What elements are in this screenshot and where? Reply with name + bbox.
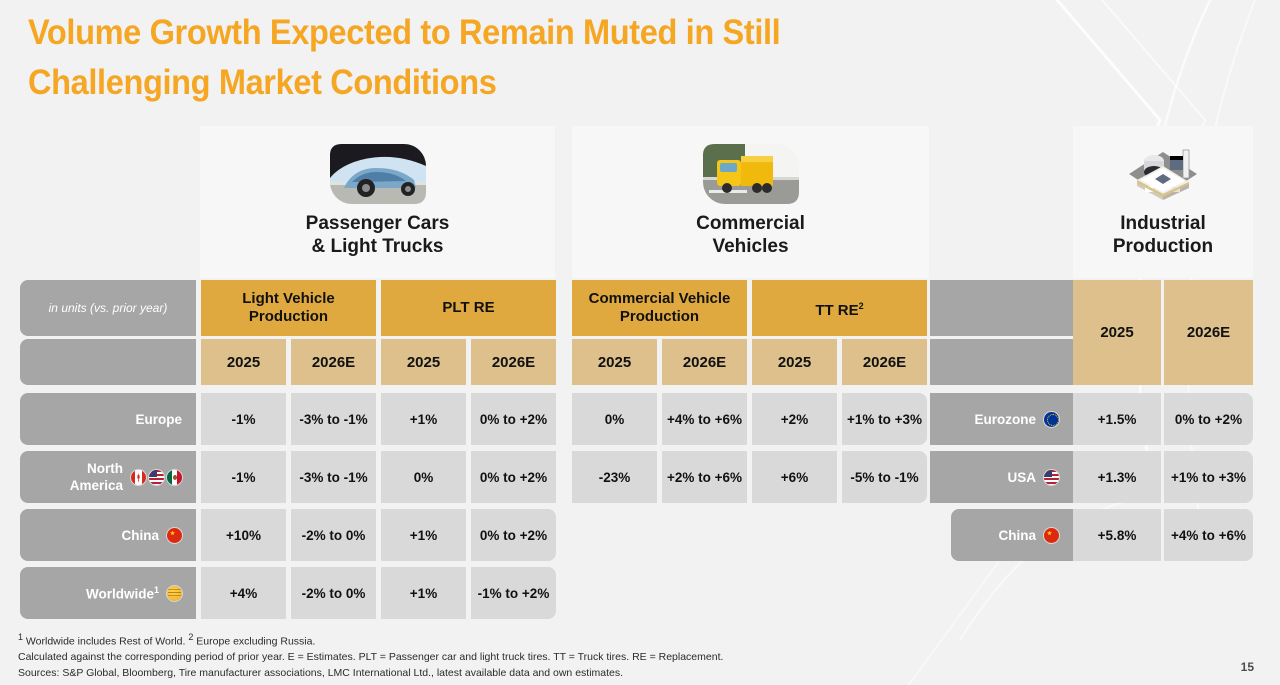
- panel-commercial-vehicles: Commercial Vehicles: [572, 126, 929, 278]
- cell-value: -23%: [599, 470, 631, 485]
- panel-title-line2: Production: [1113, 236, 1213, 257]
- cell-value: 0% to +2%: [480, 528, 547, 543]
- cell-value: -1% to +2%: [478, 586, 550, 601]
- cell-europe-1: -3% to -1%: [291, 393, 376, 445]
- year-label: 2025: [227, 354, 260, 371]
- cell-value: +1% to +3%: [847, 412, 922, 427]
- year-label: 2026E: [683, 354, 726, 371]
- flag-eu-icon: [1044, 412, 1059, 427]
- row-label-line1: North: [87, 461, 123, 476]
- cell-value: +1%: [410, 586, 437, 601]
- cell-north-america-1: -3% to -1%: [291, 451, 376, 503]
- cell-value: -3% to -1%: [299, 470, 367, 485]
- footnote-line-3: Sources: S&P Global, Bloomberg, Tire man…: [18, 666, 723, 682]
- cell-north-america-3: 0% to +2%: [471, 451, 556, 503]
- cell-value: +1% to +3%: [1171, 470, 1246, 485]
- footnote-text-2: Europe excluding Russia.: [193, 636, 315, 648]
- cell-value: +10%: [226, 528, 261, 543]
- cell-north-america-6: +6%: [752, 451, 837, 503]
- footnote-line-2: Calculated against the corresponding per…: [18, 650, 723, 666]
- footnote-marker-1: 1: [154, 585, 159, 595]
- row-label-text: China: [121, 528, 159, 543]
- cell-europe-3: 0% to +2%: [471, 393, 556, 445]
- header-gap-cell-2: [930, 339, 1073, 385]
- year-row-label-spacer: [20, 339, 196, 385]
- panel-title-passenger-cars: Passenger Cars & Light Trucks: [200, 212, 555, 258]
- cell-europe-4: 0%: [572, 393, 657, 445]
- panel-title-line1: Commercial: [696, 213, 805, 234]
- panel-title-line2: & Light Trucks: [312, 236, 444, 257]
- cell-china-2: +1%: [381, 509, 466, 561]
- cell-china-ip-1: +4% to +6%: [1164, 509, 1253, 561]
- cell-value: +1.3%: [1098, 470, 1137, 485]
- cell-value: -2% to 0%: [302, 528, 366, 543]
- year-header-3: 2026E: [471, 339, 556, 385]
- row-label-worldwide: Worldwide1: [20, 567, 196, 619]
- cell-value: -1%: [231, 412, 255, 427]
- group-header-commercial-vehicle-production: Commercial Vehicle Production: [572, 280, 747, 336]
- cell-north-america-2: 0%: [381, 451, 466, 503]
- year-label: 2026E: [863, 354, 906, 371]
- row-label-line2: America: [70, 478, 123, 493]
- page-title: Volume Growth Expected to Remain Muted i…: [28, 8, 958, 108]
- year-header-0: 2025: [201, 339, 286, 385]
- ip-year-header-2026e: 2026E: [1164, 280, 1253, 385]
- cell-europe-7: +1% to +3%: [842, 393, 927, 445]
- ip-year-2025: 2025: [1100, 324, 1133, 341]
- cell-value: +1%: [410, 412, 437, 427]
- cell-value: 0%: [414, 470, 434, 485]
- cell-value: -2% to 0%: [302, 586, 366, 601]
- cell-value: +5.8%: [1098, 528, 1137, 543]
- group-header-line1: TT RE: [815, 302, 858, 319]
- cell-value: +1.5%: [1098, 412, 1137, 427]
- flag-canada-icon: [131, 470, 146, 485]
- group-header-plt-re: PLT RE: [381, 280, 556, 336]
- row-label-text: USA: [1007, 470, 1036, 485]
- cell-value: 0% to +2%: [480, 470, 547, 485]
- cell-value: -1%: [231, 470, 255, 485]
- flag-china-icon: [1044, 528, 1059, 543]
- row-label-europe: Europe: [20, 393, 196, 445]
- cell-value: 0% to +2%: [1175, 412, 1242, 427]
- row-label-china-ip: China: [951, 509, 1073, 561]
- footnote-text-1: Worldwide includes Rest of World.: [23, 636, 188, 648]
- cell-value: +2% to +6%: [667, 470, 742, 485]
- row-label-eurozone: Eurozone: [930, 393, 1073, 445]
- cell-value: -3% to -1%: [299, 412, 367, 427]
- footnote-line-1: 1 Worldwide includes Rest of World. 2 Eu…: [18, 630, 723, 650]
- row-label-text: Eurozone: [974, 412, 1036, 427]
- panel-title-line1: Industrial: [1120, 213, 1206, 234]
- cell-europe-0: -1%: [201, 393, 286, 445]
- flag-globe-icon: [167, 586, 182, 601]
- cell-worldwide-2: +1%: [381, 567, 466, 619]
- sports-car-photo: [330, 144, 426, 204]
- panel-passenger-cars: Passenger Cars & Light Trucks: [200, 126, 555, 278]
- page-number: 15: [1241, 660, 1254, 674]
- cell-europe-5: +4% to +6%: [662, 393, 747, 445]
- cell-worldwide-1: -2% to 0%: [291, 567, 376, 619]
- cell-value: 0%: [605, 412, 625, 427]
- cell-value: +2%: [781, 412, 808, 427]
- header-gap-cell: [930, 280, 1073, 336]
- cell-value: +4%: [230, 586, 257, 601]
- cell-china-ip-0: +5.8%: [1073, 509, 1161, 561]
- year-header-7: 2026E: [842, 339, 927, 385]
- year-label: 2025: [598, 354, 631, 371]
- cell-usa-0: +1.3%: [1073, 451, 1161, 503]
- year-label: 2025: [778, 354, 811, 371]
- group-header-line1: PLT RE: [442, 299, 494, 317]
- year-header-1: 2026E: [291, 339, 376, 385]
- row-label-text: China: [998, 528, 1036, 543]
- cell-china-3: 0% to +2%: [471, 509, 556, 561]
- year-header-2: 2025: [381, 339, 466, 385]
- panel-industrial-production: Industrial Production: [1073, 126, 1253, 278]
- cell-eurozone-0: +1.5%: [1073, 393, 1161, 445]
- group-header-line1: Light Vehicle: [242, 290, 335, 307]
- year-label: 2026E: [492, 354, 535, 371]
- flag-mexico-icon: [167, 470, 182, 485]
- units-label-cell: in units (vs. prior year): [20, 280, 196, 336]
- cell-value: +4% to +6%: [1171, 528, 1246, 543]
- group-header-line2: Production: [620, 308, 699, 325]
- cell-usa-1: +1% to +3%: [1164, 451, 1253, 503]
- year-label: 2025: [407, 354, 440, 371]
- cell-value: +4% to +6%: [667, 412, 742, 427]
- year-header-5: 2026E: [662, 339, 747, 385]
- cell-china-1: -2% to 0%: [291, 509, 376, 561]
- cell-value: +1%: [410, 528, 437, 543]
- year-header-6: 2025: [752, 339, 837, 385]
- yellow-truck-photo: [703, 144, 799, 204]
- cell-eurozone-1: 0% to +2%: [1164, 393, 1253, 445]
- ip-year-header-2025: 2025: [1073, 280, 1161, 385]
- row-label-china: China: [20, 509, 196, 561]
- cell-north-america-5: +2% to +6%: [662, 451, 747, 503]
- panel-title-line1: Passenger Cars: [306, 213, 450, 234]
- year-label: 2026E: [312, 354, 355, 371]
- cell-worldwide-0: +4%: [201, 567, 286, 619]
- cell-value: -5% to -1%: [850, 470, 918, 485]
- cell-north-america-0: -1%: [201, 451, 286, 503]
- row-label-north-america: North America: [20, 451, 196, 503]
- flag-china-icon: [167, 528, 182, 543]
- factory-isometric-icon: [1123, 144, 1203, 206]
- row-label-text: Worldwide: [86, 586, 154, 601]
- cell-europe-6: +2%: [752, 393, 837, 445]
- group-header-line1: Commercial Vehicle: [589, 290, 731, 307]
- year-header-4: 2025: [572, 339, 657, 385]
- group-header-light-vehicle-production: Light Vehicle Production: [201, 280, 376, 336]
- units-label: in units (vs. prior year): [49, 301, 168, 315]
- cell-north-america-7: -5% to -1%: [842, 451, 927, 503]
- cell-worldwide-3: -1% to +2%: [471, 567, 556, 619]
- panel-title-commercial-vehicles: Commercial Vehicles: [572, 212, 929, 258]
- footnote-marker-2: 2: [859, 301, 864, 311]
- group-header-line2: Production: [249, 308, 328, 325]
- cell-europe-2: +1%: [381, 393, 466, 445]
- row-label-text: Europe: [135, 412, 182, 427]
- cell-north-america-4: -23%: [572, 451, 657, 503]
- cell-china-0: +10%: [201, 509, 286, 561]
- flag-usa-icon: [149, 470, 164, 485]
- cell-value: 0% to +2%: [480, 412, 547, 427]
- ip-year-2026e: 2026E: [1187, 324, 1230, 341]
- footnotes: 1 Worldwide includes Rest of World. 2 Eu…: [18, 630, 723, 681]
- cell-value: +6%: [781, 470, 808, 485]
- flag-usa-icon: [1044, 470, 1059, 485]
- group-header-tt-re: TT RE2: [752, 280, 927, 336]
- panel-title-industrial-production: Industrial Production: [1073, 212, 1253, 258]
- panel-title-line2: Vehicles: [712, 236, 788, 257]
- row-label-usa: USA: [930, 451, 1073, 503]
